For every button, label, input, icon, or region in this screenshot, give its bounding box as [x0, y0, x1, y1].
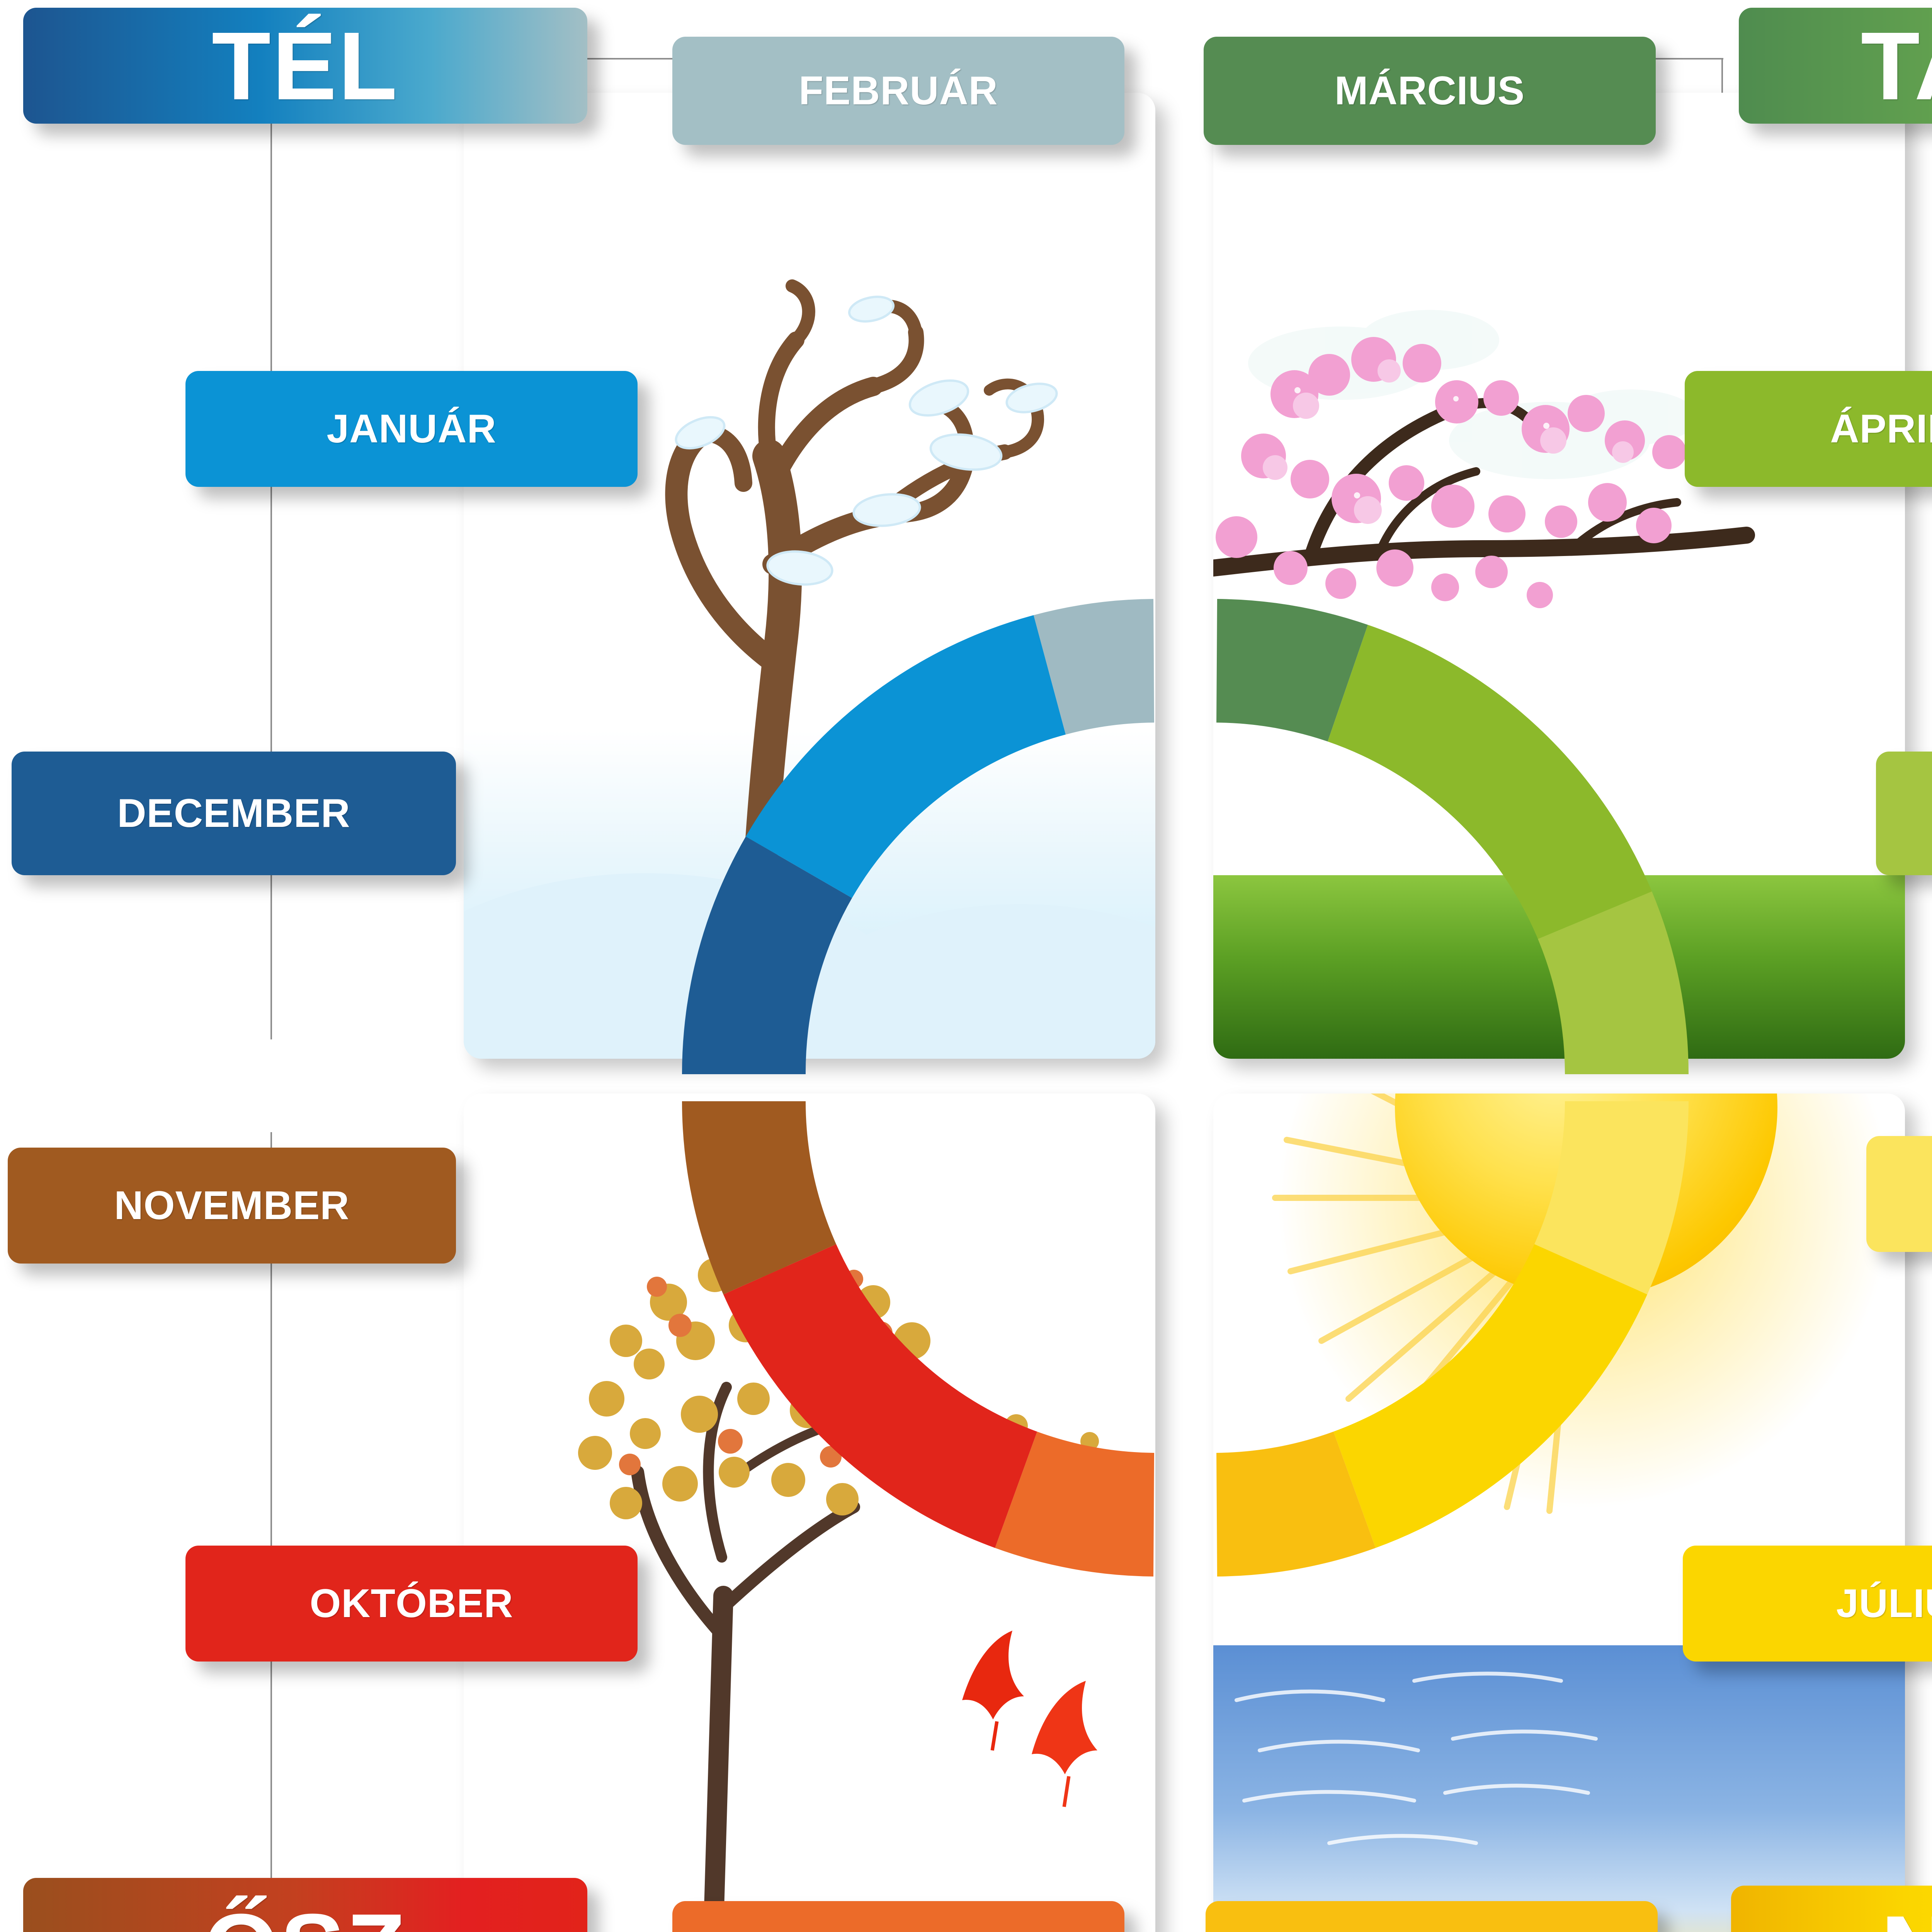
- autumn-canopy: [578, 1240, 1121, 1544]
- connector-winter-vertical: [270, 58, 272, 1039]
- blossom-cluster: [1216, 337, 1686, 608]
- month-label-december-text: DECEMBER: [117, 791, 350, 837]
- spring-scene-panel: [1213, 93, 1905, 1059]
- month-label-marcius-text: MÁRCIUS: [1335, 68, 1525, 114]
- month-label-marcius[interactable]: MÁRCIUS: [1204, 37, 1656, 145]
- month-label-junius[interactable]: JÚNIUS: [1866, 1136, 1932, 1252]
- month-label-szeptember[interactable]: SZEPTEMBER: [672, 1901, 1124, 1932]
- autumn-tree-icon: [464, 1094, 1155, 1932]
- month-label-februar-text: FEBRUÁR: [799, 68, 998, 114]
- autumn-scene-panel: [464, 1094, 1155, 1932]
- month-label-augusztus[interactable]: AUGUSZTUS: [1206, 1901, 1658, 1932]
- season-label-spring-text: TAVASZ: [1861, 10, 1932, 121]
- season-label-autumn[interactable]: ŐSZ: [23, 1878, 587, 1932]
- month-label-november-text: NOVEMBER: [114, 1183, 350, 1229]
- cherry-blossom-branch-icon: [1213, 93, 1905, 1059]
- season-label-autumn-text: ŐSZ: [204, 1892, 407, 1932]
- bare-snowy-tree-icon: [464, 93, 1155, 1059]
- month-label-oktober[interactable]: OKTÓBER: [185, 1546, 638, 1662]
- month-label-julius[interactable]: JÚLIUS: [1683, 1546, 1932, 1662]
- month-label-november[interactable]: NOVEMBER: [8, 1148, 456, 1264]
- summer-scene-panel: [1213, 1094, 1905, 1932]
- season-label-summer[interactable]: NYÁR: [1731, 1886, 1932, 1932]
- month-label-aprilis-text: ÁPRILIS: [1830, 406, 1932, 452]
- month-label-februar[interactable]: FEBRUÁR: [672, 37, 1124, 145]
- seasons-infographic: TÉL FEBRUÁR JANUÁR DECEMBER TAVASZ MÁRCI…: [0, 0, 1932, 1932]
- month-label-december[interactable]: DECEMBER: [12, 752, 456, 875]
- month-label-majus[interactable]: MÁJUS: [1876, 752, 1932, 875]
- season-label-spring[interactable]: TAVASZ: [1739, 8, 1932, 124]
- season-label-winter-text: TÉL: [212, 10, 399, 121]
- month-label-januar-text: JANUÁR: [327, 406, 496, 452]
- winter-scene-panel: [464, 93, 1155, 1059]
- season-label-winter[interactable]: TÉL: [23, 8, 587, 124]
- season-label-summer-text: NYÁR: [1881, 1894, 1932, 1932]
- falling-maple-leaf-2: [1032, 1681, 1097, 1807]
- month-label-januar[interactable]: JANUÁR: [185, 371, 638, 487]
- month-label-aprilis[interactable]: ÁPRILIS: [1685, 371, 1932, 487]
- month-label-oktober-text: OKTÓBER: [310, 1581, 514, 1627]
- month-label-julius-text: JÚLIUS: [1836, 1581, 1932, 1627]
- falling-maple-leaf: [962, 1631, 1024, 1750]
